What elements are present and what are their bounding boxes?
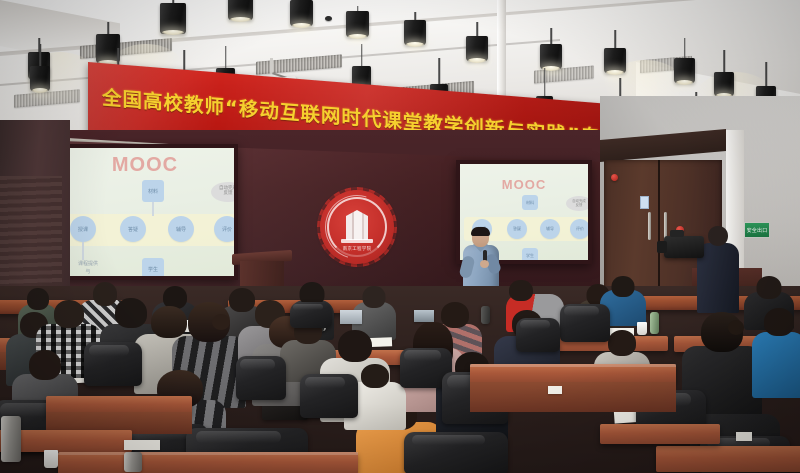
pendant-lamp-20	[714, 50, 734, 98]
pendant-lamp-10	[290, 0, 313, 42]
exit-sign: 安全出口	[744, 222, 770, 238]
pendant-lamp-19	[674, 38, 695, 86]
slide-node-top-left: 材料	[142, 180, 164, 202]
hair-bun	[212, 314, 230, 330]
presenter	[459, 228, 503, 292]
slide-node-bottom-left: 学生	[142, 258, 164, 276]
slide-row-node-left-0: 授课	[70, 216, 96, 242]
feedback-right-line-2: 反馈	[576, 204, 583, 208]
chair-14[interactable]	[290, 302, 332, 328]
door-handle-left[interactable]	[648, 212, 651, 240]
thermos-4	[481, 306, 490, 324]
pendant-lamp-17	[604, 30, 626, 78]
thermos-3	[650, 312, 659, 334]
pendant-lamp-5	[30, 44, 50, 92]
smoke-detector-3	[325, 16, 332, 21]
lecture-hall-photo: 全国高校教师“移动互联网时代课堂教学创新与实践”专题研修班 ——南京工程学院 南…	[0, 0, 800, 473]
desk-front-mid	[58, 452, 358, 473]
white-label-1	[548, 386, 562, 394]
left-projection-screen: MOOC 材料 自动完成 反馈 授课 答疑 辅导 评价 课程提供 与 学生	[52, 144, 238, 280]
pendant-lamp-14	[466, 22, 488, 68]
door-notice-sign	[640, 196, 649, 209]
white-label-2	[736, 432, 752, 441]
desk-highlight-2	[470, 364, 676, 367]
desk-front-far-right	[656, 446, 800, 472]
university-crest-icon: 南京工程学院	[320, 190, 394, 264]
slide-bottom-left-text-1: 课程提供	[66, 260, 110, 267]
audience-member-m17-blue	[752, 308, 800, 394]
desk-front-right2	[600, 424, 720, 444]
slide-node-top-right: 材料	[522, 195, 538, 210]
pendant-lamp-12	[404, 12, 426, 56]
crest-caption: 南京工程学院	[320, 246, 394, 252]
fire-alarm-icon-3	[611, 174, 618, 181]
chair-9[interactable]	[404, 432, 508, 473]
pendant-lamp-11	[346, 6, 369, 50]
video-camera-icon	[664, 236, 704, 258]
chair-1[interactable]	[84, 342, 142, 386]
chair-10[interactable]	[560, 304, 610, 342]
desk-front-right	[470, 364, 676, 384]
thermos-6	[124, 452, 142, 472]
pendant-lamp-4	[228, 0, 253, 36]
slide-connector-left-down	[82, 242, 84, 260]
thermos-5	[1, 416, 21, 462]
slide-row-node-right-1: 答疑	[507, 219, 527, 239]
paper-cup-5	[44, 450, 58, 468]
chair-5[interactable]	[236, 356, 286, 400]
feedback-line-2: 反馈	[224, 192, 233, 197]
chair-13[interactable]	[516, 318, 560, 352]
slide-title-right: MOOC	[460, 177, 588, 192]
desk-highlight-1	[58, 452, 358, 455]
exit-sign-text: 安全出口	[747, 227, 768, 234]
slide-row-node-left-2: 辅导	[168, 216, 194, 242]
slide-row-node-left-1: 答疑	[120, 216, 146, 242]
slide-row-node-right-2: 辅导	[540, 219, 560, 239]
slide-connector-left-v	[152, 202, 154, 216]
laptop-1	[340, 310, 362, 324]
chair-6[interactable]	[300, 374, 358, 418]
slide-bottom-left-text-2: 与	[66, 268, 110, 275]
pendant-lamp-3	[160, 0, 186, 50]
slide-row-node-left-3: 评价	[214, 216, 234, 242]
slide-node-feedback-right: 自动完成 反馈	[566, 196, 588, 211]
desk-front-right-panel	[470, 382, 676, 412]
paper-on-desk-front	[124, 440, 160, 450]
slide-title-left: MOOC	[56, 154, 234, 177]
slide-node-feedback-left: 自动完成 反馈	[211, 182, 234, 202]
slide-row-node-right-3: 评价	[570, 219, 588, 239]
hair-bun-2	[728, 320, 744, 335]
slide-node-bottom-right: 学生	[522, 248, 538, 260]
